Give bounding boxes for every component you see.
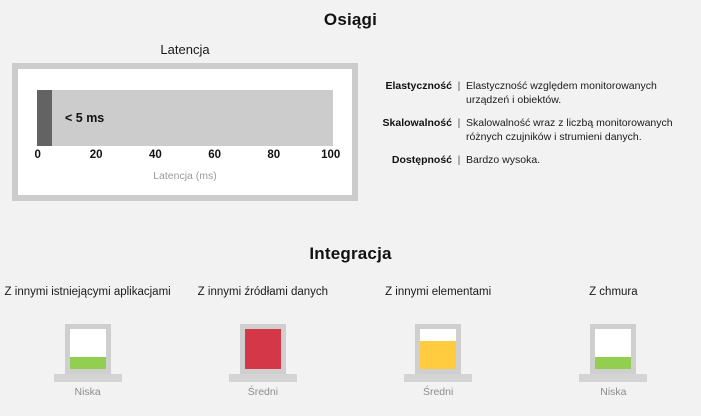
gauge-frame [415, 324, 461, 374]
gauge-level-label: Niska [74, 386, 100, 398]
gauge-caption: Z chmura [589, 284, 638, 320]
latency-bar [37, 90, 52, 146]
integration-gauge: Z innymi źródłami danychŚredni [175, 284, 350, 409]
gauge-frame [65, 324, 111, 374]
attribute-row: Elastyczność|Elastyczność względem monit… [366, 79, 696, 107]
x-axis-tick: 20 [90, 149, 103, 161]
attribute-separator: | [452, 79, 466, 93]
attribute-description: Elastyczność względem monitorowanych urz… [466, 79, 696, 107]
gauge-fill [245, 329, 281, 369]
x-axis-tick: 80 [267, 149, 280, 161]
x-axis-tick: 0 [34, 149, 40, 161]
latency-chart-plot-area: < 5 ms 020406080100 Latencja (ms) [18, 69, 352, 195]
gauge-meter-icon [229, 324, 297, 382]
gauge-meter-icon [404, 324, 472, 382]
latency-chart-title: Latencja [12, 42, 358, 57]
attribute-term: Dostępność [366, 153, 452, 167]
attribute-term: Skalowalność [366, 116, 452, 130]
latency-x-axis-label: Latencja (ms) [37, 170, 333, 182]
gauge-level-label: Średni [423, 386, 453, 398]
latency-bar-value-label: < 5 ms [65, 111, 104, 125]
gauge-well [595, 329, 631, 369]
gauge-meter-icon [54, 324, 122, 382]
gauge-fill [70, 357, 106, 369]
attribute-description: Skalowalność wraz z liczbą monitorowanyc… [466, 116, 696, 144]
infographic-page: Osiągi Latencja < 5 ms 020406080100 Late… [0, 0, 701, 416]
gauge-meter-icon [579, 324, 647, 382]
gauge-caption: Z innymi elementami [385, 284, 491, 320]
integration-gauge: Z innymi istniejącymi aplikacjamiNiska [0, 284, 175, 409]
attribute-separator: | [452, 116, 466, 130]
x-axis-tick: 100 [321, 149, 340, 161]
gauge-frame [590, 324, 636, 374]
integration-gauge: Z innymi elementamiŚredni [351, 284, 526, 409]
x-axis-tick: 40 [149, 149, 162, 161]
gauge-base [404, 374, 472, 382]
gauge-well [420, 329, 456, 369]
performance-section-title: Osiągi [0, 10, 701, 30]
latency-bar-track: < 5 ms [37, 90, 333, 146]
gauge-well [70, 329, 106, 369]
attribute-term: Elastyczność [366, 79, 452, 93]
gauge-fill [595, 357, 631, 369]
integration-gauge: Z chmuraNiska [526, 284, 701, 409]
gauge-frame [240, 324, 286, 374]
attribute-separator: | [452, 153, 466, 167]
latency-chart-card: < 5 ms 020406080100 Latencja (ms) [12, 63, 358, 201]
latency-x-axis: 020406080100 [37, 149, 333, 165]
gauge-level-label: Średni [248, 386, 278, 398]
attribute-description: Bardzo wysoka. [466, 153, 696, 167]
attribute-row: Dostępność|Bardzo wysoka. [366, 153, 696, 167]
gauge-caption: Z innymi istniejącymi aplikacjami [5, 284, 171, 320]
integration-gauges-row: Z innymi istniejącymi aplikacjamiNiskaZ … [0, 284, 701, 409]
gauge-base [229, 374, 297, 382]
gauge-well [245, 329, 281, 369]
gauge-caption: Z innymi źródłami danych [198, 284, 328, 320]
integration-section-title: Integracja [0, 244, 701, 264]
gauge-base [579, 374, 647, 382]
gauge-base [54, 374, 122, 382]
gauge-level-label: Niska [600, 386, 626, 398]
x-axis-tick: 60 [208, 149, 221, 161]
gauge-fill [420, 341, 456, 369]
attribute-row: Skalowalność|Skalowalność wraz z liczbą … [366, 116, 696, 144]
performance-attributes-list: Elastyczność|Elastyczność względem monit… [366, 79, 696, 176]
